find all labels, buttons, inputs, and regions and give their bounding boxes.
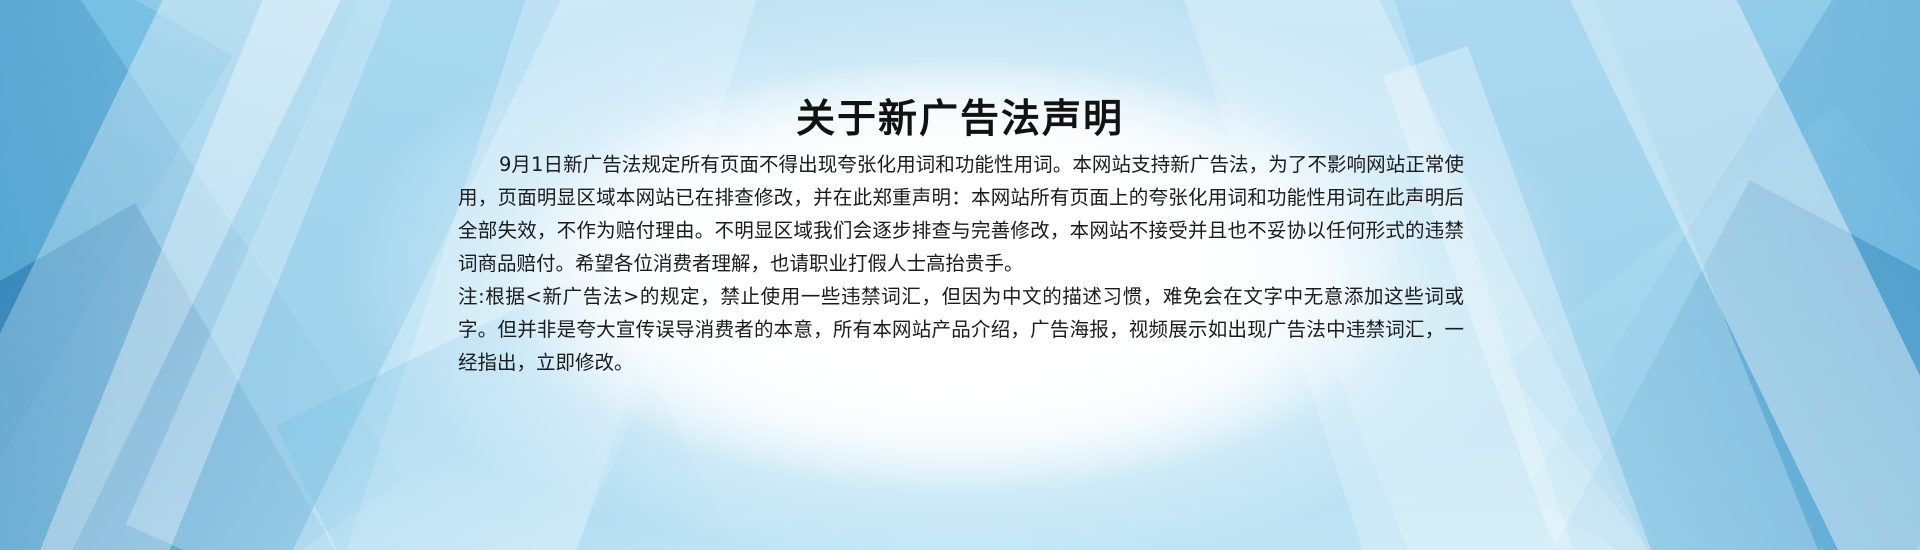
page-title: 关于新广告法声明 [0,88,1920,144]
announcement-banner: 关于新广告法声明 9月1日新广告法规定所有页面不得出现夸张化用词和功能性用词。本… [0,0,1920,550]
statement-paragraph-1: 9月1日新广告法规定所有页面不得出现夸张化用词和功能性用词。本网站支持新广告法，… [458,148,1464,280]
announcement-content: 关于新广告法声明 9月1日新广告法规定所有页面不得出现夸张化用词和功能性用词。本… [0,0,1920,550]
statement-paragraph-2: 注:根据<新广告法>的规定，禁止使用一些违禁词汇，但因为中文的描述习惯，难免会在… [458,280,1464,379]
statement-body: 9月1日新广告法规定所有页面不得出现夸张化用词和功能性用词。本网站支持新广告法，… [458,148,1464,379]
